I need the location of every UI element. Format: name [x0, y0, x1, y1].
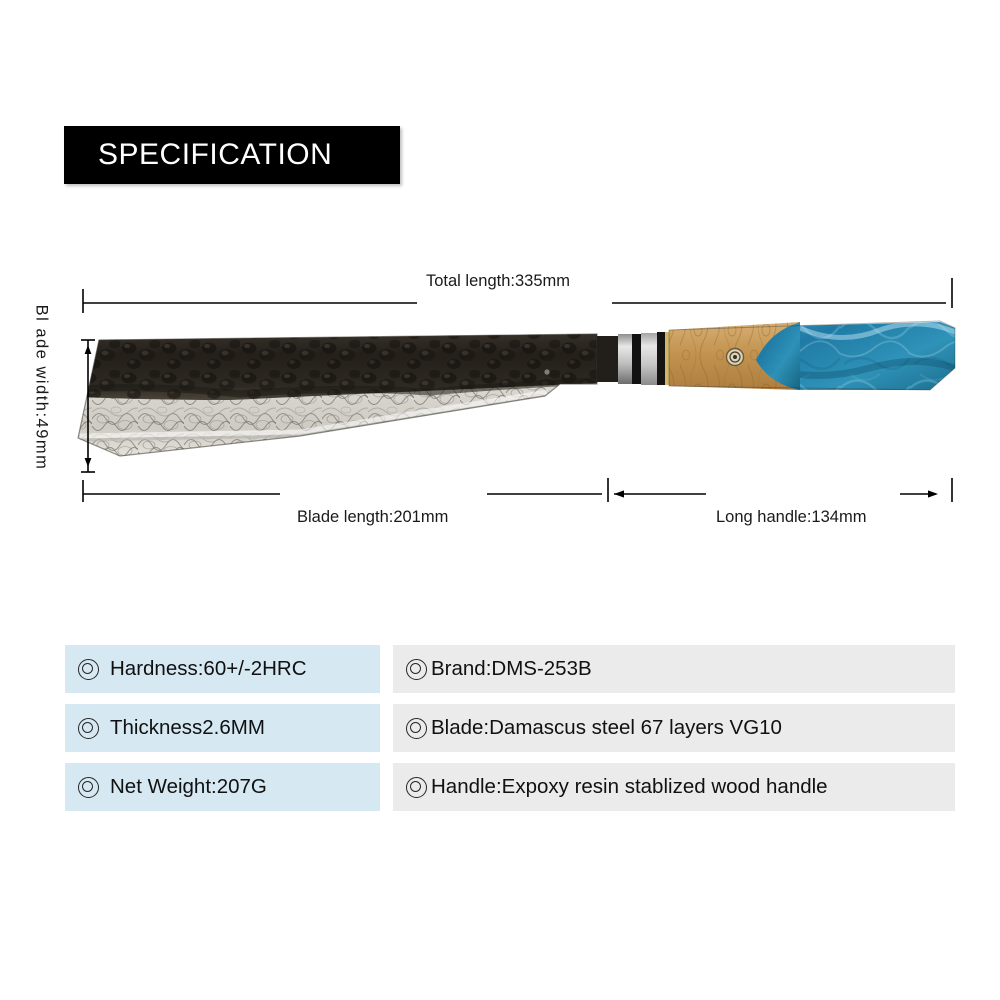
- spec-row-brand: Brand:DMS-253B: [393, 645, 955, 693]
- double-circle-icon: [406, 718, 427, 739]
- spec-row-handle-text: Handle:Expoxy resin stablized wood handl…: [431, 777, 828, 798]
- handle-length-label: Long handle:134mm: [716, 508, 866, 527]
- double-circle-icon: [78, 659, 99, 680]
- spec-column-left: Hardness:60+/-2HRC Thickness2.6MM Net We…: [65, 645, 380, 822]
- blade-group: [60, 330, 620, 470]
- total-length-label: Total length:335mm: [426, 272, 570, 291]
- spec-row-net-weight-text: Net Weight:207G: [106, 777, 267, 798]
- blade-length-label: Blade length:201mm: [297, 508, 448, 527]
- spec-row-hardness-text: Hardness:60+/-2HRC: [106, 659, 307, 680]
- spec-row-hardness: Hardness:60+/-2HRC: [65, 645, 380, 693]
- double-circle-icon: [78, 718, 99, 739]
- spec-row-blade: Blade:Damascus steel 67 layers VG10: [393, 704, 955, 752]
- spec-row-thickness-text: Thickness2.6MM: [106, 718, 265, 739]
- double-circle-icon: [406, 659, 427, 680]
- knife-illustration: [0, 250, 1000, 550]
- spec-row-handle: Handle:Expoxy resin stablized wood handl…: [393, 763, 955, 811]
- spec-row-net-weight: Net Weight:207G: [65, 763, 380, 811]
- knife-dimension-diagram: Total length:335mm Bl ade width:49mm Bla…: [0, 250, 1000, 550]
- spec-row-brand-text: Brand:DMS-253B: [431, 659, 592, 680]
- specification-banner: SPECIFICATION: [64, 126, 400, 184]
- knife-bolster: [597, 332, 669, 385]
- double-circle-icon: [406, 777, 427, 798]
- double-circle-icon: [78, 777, 99, 798]
- specification-title: SPECIFICATION: [64, 138, 332, 172]
- spec-row-thickness: Thickness2.6MM: [65, 704, 380, 752]
- spec-column-right: Brand:DMS-253B Blade:Damascus steel 67 l…: [393, 645, 955, 822]
- spec-row-blade-text: Blade:Damascus steel 67 layers VG10: [431, 718, 782, 739]
- blade-width-label: Bl ade width:49mm: [32, 303, 51, 473]
